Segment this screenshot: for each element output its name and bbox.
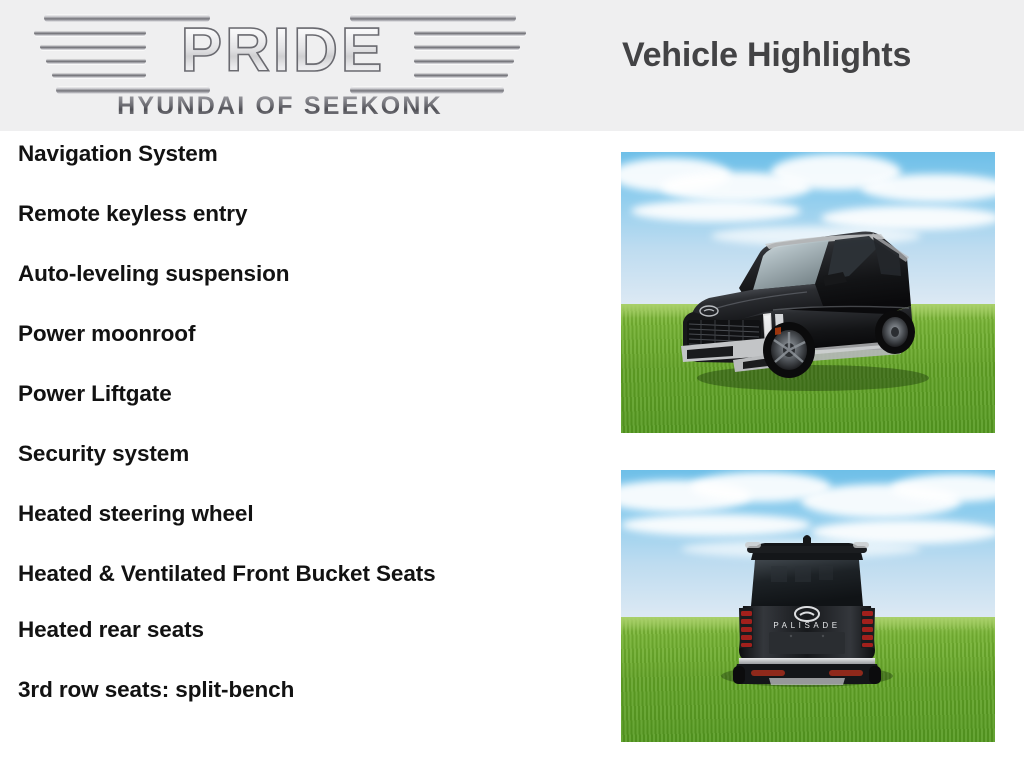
list-item: Navigation System	[18, 140, 558, 168]
page-header: PRIDE PRIDE HYUNDAI OF SEEKONK Vehicle H…	[0, 0, 1024, 131]
logo-wordmark: PRIDE	[118, 18, 448, 84]
list-item: Security system	[18, 440, 558, 468]
vehicle-photo-rear[interactable]: PALISADE	[621, 470, 995, 742]
dealer-logo[interactable]: PRIDE PRIDE HYUNDAI OF SEEKONK	[22, 8, 538, 123]
list-item: Auto-leveling suspension	[18, 260, 558, 288]
list-item: Heated rear seats	[18, 616, 558, 644]
suv-front-illustration	[673, 210, 945, 392]
vehicle-photo-front[interactable]	[621, 152, 995, 433]
tailgate-badge-text: PALISADE	[773, 621, 840, 630]
list-item: 3rd row seats: split-bench	[18, 676, 558, 704]
suv-rear-illustration: PALISADE	[709, 518, 905, 698]
list-item: Remote keyless entry	[18, 200, 558, 228]
list-item: Power moonroof	[18, 320, 558, 348]
list-item: Heated steering wheel	[18, 500, 558, 528]
logo-dealer-name: HYUNDAI OF SEEKONK	[22, 92, 538, 121]
list-item: Power Liftgate	[18, 380, 558, 408]
list-item: Heated & Ventilated Front Bucket Seats	[18, 560, 498, 588]
page-title: Vehicle Highlights	[622, 36, 911, 75]
vehicle-highlights-list: Navigation System Remote keyless entry A…	[18, 140, 558, 736]
vehicle-highlights-page: PRIDE PRIDE HYUNDAI OF SEEKONK Vehicle H…	[0, 0, 1024, 768]
